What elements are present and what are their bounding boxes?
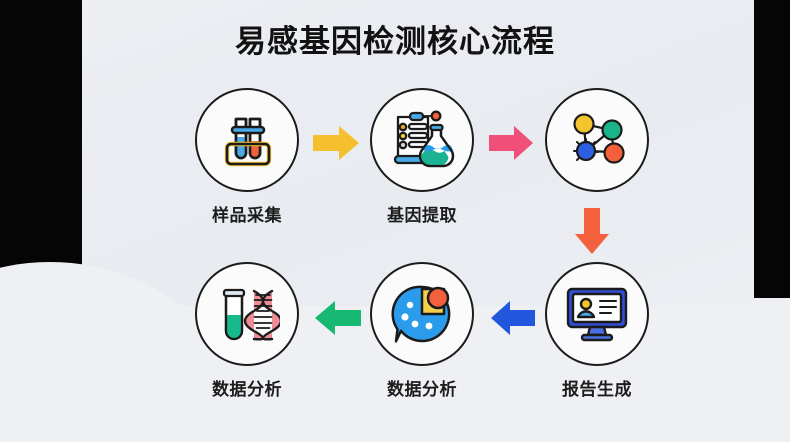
arrow-down-network-to-report bbox=[573, 208, 611, 261]
step-report-generation[interactable]: 报告生成 bbox=[538, 262, 656, 400]
step-gene-extraction[interactable]: 基因提取 bbox=[363, 88, 481, 226]
monitor-report-icon bbox=[562, 283, 632, 345]
test-tubes-icon bbox=[214, 107, 280, 173]
arrow-right-sample-to-extraction bbox=[313, 124, 361, 167]
decorative-right-notch bbox=[746, 298, 790, 318]
step-label: 基因提取 bbox=[363, 201, 481, 226]
step-label: 样品采集 bbox=[188, 201, 306, 226]
step-label: 数据分析 bbox=[188, 375, 306, 400]
step-gene-network[interactable] bbox=[538, 88, 656, 201]
step-icon-circle bbox=[370, 262, 474, 366]
step-icon-circle bbox=[195, 88, 299, 192]
step-icon-circle bbox=[370, 88, 474, 192]
step-data-analysis-chart[interactable]: 数据分析 bbox=[363, 262, 481, 400]
arrow-right-extraction-to-network bbox=[489, 124, 535, 167]
pie-chart-icon bbox=[389, 281, 455, 347]
step-label: 数据分析 bbox=[363, 375, 481, 400]
dna-tube-icon bbox=[214, 281, 280, 347]
arrow-left-analysis-to-dna bbox=[313, 299, 361, 342]
network-nodes-icon bbox=[562, 106, 632, 174]
clipboard-flask-icon bbox=[388, 107, 456, 173]
step-label: 报告生成 bbox=[538, 375, 656, 400]
step-icon-circle bbox=[195, 262, 299, 366]
step-data-analysis-dna[interactable]: 数据分析 bbox=[188, 262, 306, 400]
step-icon-circle bbox=[545, 262, 649, 366]
arrow-left-report-to-analysis bbox=[489, 299, 535, 342]
step-icon-circle bbox=[545, 88, 649, 192]
infographic-slide: 易感基因检测核心流程 bbox=[0, 0, 790, 442]
step-sample-collection[interactable]: 样品采集 bbox=[188, 88, 306, 226]
page-title: 易感基因检测核心流程 bbox=[0, 16, 790, 61]
